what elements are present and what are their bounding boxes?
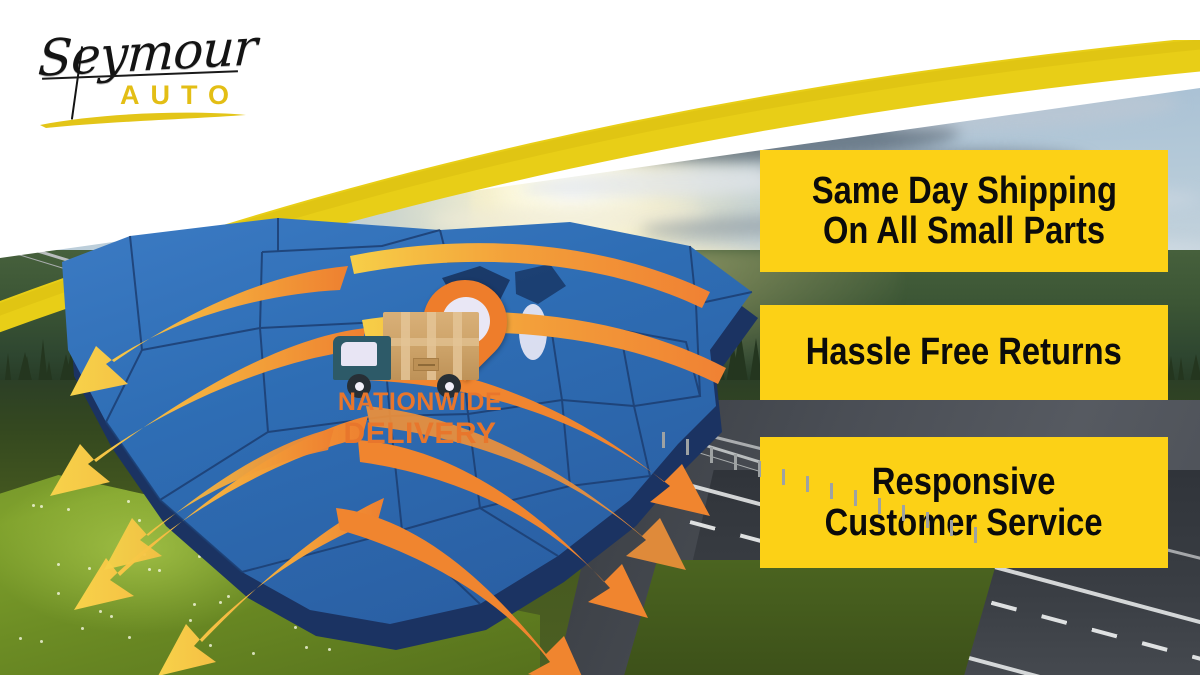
- guardrail-post: [830, 483, 833, 499]
- truck-window: [341, 342, 377, 366]
- guardrail-post: [926, 512, 929, 528]
- guardrail-post: [902, 505, 905, 521]
- guardrail-post: [854, 490, 857, 506]
- guardrail-post: [710, 447, 713, 463]
- guardrail-post: [782, 469, 785, 485]
- truck-cargo-box: [383, 312, 479, 380]
- guardrail-post: [974, 527, 977, 543]
- feature-panel-responsive-customer-service[interactable]: Responsive Customer Service: [760, 437, 1168, 568]
- delivery-truck-icon: [333, 306, 483, 396]
- nationwide-delivery-text: NATIONWIDE DELIVERY: [325, 390, 515, 449]
- delivery-line-1: NATIONWIDE: [325, 390, 515, 415]
- guardrail-post: [758, 461, 761, 477]
- delivery-line-2: DELIVERY: [325, 419, 515, 449]
- logo-sub-name: AUTO: [120, 80, 240, 111]
- feature-panel-same-day-shipping[interactable]: Same Day Shipping On All Small Parts: [760, 150, 1168, 272]
- guardrail-post: [950, 520, 953, 536]
- logo-swoosh-icon: [40, 110, 246, 128]
- promotional-banner: Seymour AUTO: [0, 0, 1200, 675]
- guardrail-post: [686, 439, 689, 455]
- feature-panel-hassle-free-returns[interactable]: Hassle Free Returns: [760, 305, 1168, 400]
- nationwide-delivery-badge: NATIONWIDE DELIVERY: [325, 278, 515, 448]
- guardrail-post: [806, 476, 809, 492]
- panel-1-line-2: On All Small Parts: [823, 211, 1105, 251]
- guardrail-post: [662, 432, 665, 448]
- panel-3-line-1: Responsive: [872, 462, 1055, 502]
- guardrail-post: [734, 454, 737, 470]
- shipping-label: [413, 358, 439, 371]
- company-logo[interactable]: Seymour AUTO: [24, 18, 264, 128]
- panel-2-line-1: Hassle Free Returns: [806, 332, 1122, 372]
- panel-3-line-2: Customer Service: [825, 503, 1103, 543]
- panel-1-line-1: Same Day Shipping: [811, 171, 1116, 211]
- guardrail-post: [878, 498, 881, 514]
